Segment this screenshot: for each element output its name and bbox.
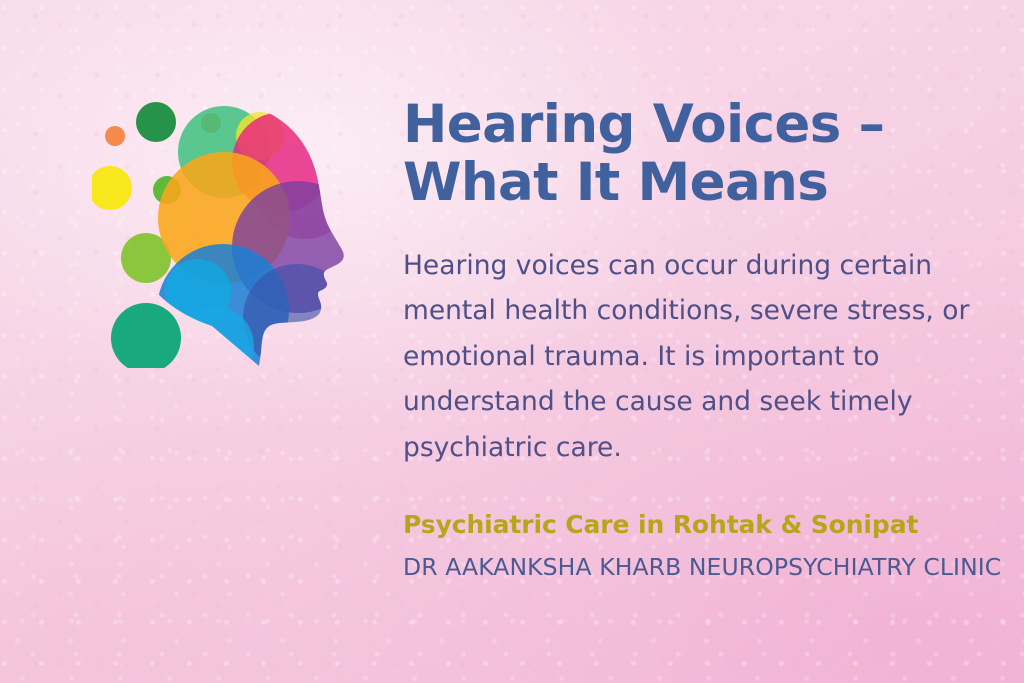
head-profile-bubbles-illustration [92,78,382,368]
indigo-circle [243,264,351,368]
yellow-bubble [92,166,132,210]
text-column: Hearing Voices – What It Means Hearing v… [403,96,1024,582]
body-paragraph: Hearing voices can occur during certain … [403,213,993,471]
footer-block: Psychiatric Care in Rohtak & Sonipat DR … [403,470,1024,581]
teal-bubble [111,303,181,368]
page-title: Hearing Voices – What It Means [403,96,1024,213]
orange-bubble-tiny [105,126,125,146]
poster-canvas: Hearing Voices – What It Means Hearing v… [0,0,1024,683]
service-highlight-text: Psychiatric Care in Rohtak & Sonipat [403,510,1024,540]
clinic-name-text: DR AAKANKSHA KHARB NEUROPSYCHIATRY CLINI… [403,540,1024,581]
